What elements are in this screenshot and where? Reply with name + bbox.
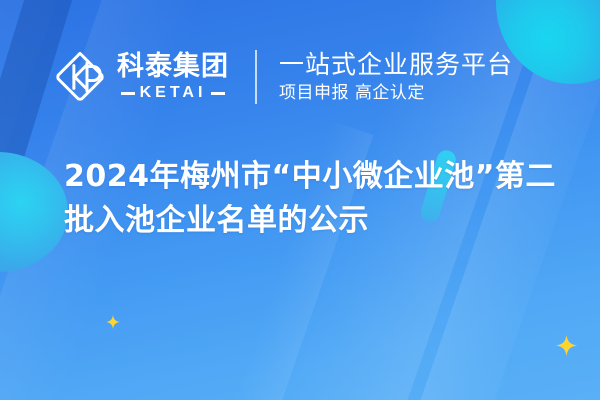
announcement-banner: 科泰集团 KETAI 一站式企业服务平台 项目申报 高企认定 2024年梅州市“…: [0, 0, 600, 400]
tagline-block: 一站式企业服务平台 项目申报 高企认定: [279, 51, 513, 103]
brand-logo[interactable]: 科泰集团 KETAI: [52, 49, 229, 105]
header-divider: [255, 50, 257, 104]
cyan-blob-bottom-left: [0, 152, 68, 272]
brand-name-cn: 科泰集团: [117, 53, 229, 80]
brand-wordmark: 科泰集团 KETAI: [117, 53, 229, 101]
wordmark-dash-right: [211, 92, 225, 95]
brand-name-en-row: KETAI: [117, 85, 229, 101]
sparkle-star-large-icon: [556, 335, 577, 356]
wordmark-dash-left: [121, 92, 135, 95]
announcement-title: 2024年梅州市“中小微企业池”第二批入池企业名单的公示: [64, 155, 564, 244]
sparkle-star-small-icon: [106, 315, 120, 329]
tagline-primary: 一站式企业服务平台: [279, 51, 513, 79]
kp-diamond-monogram-icon: [52, 49, 108, 105]
tagline-secondary: 项目申报 高企认定: [279, 83, 513, 103]
brand-name-en: KETAI: [140, 85, 207, 101]
banner-header: 科泰集团 KETAI 一站式企业服务平台 项目申报 高企认定: [0, 38, 600, 116]
